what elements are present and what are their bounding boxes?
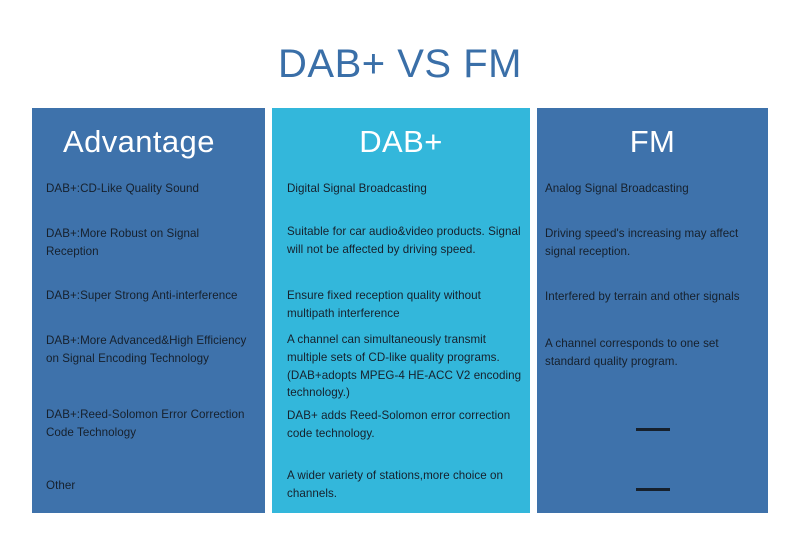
column-body-dab-plus: Digital Signal Broadcasting Suitable for…: [272, 176, 530, 513]
table-cell: A channel can simultaneously transmit mu…: [287, 331, 522, 402]
em-dash-icon: [636, 428, 670, 431]
table-cell: DAB+:More Advanced&High Efficiency on Si…: [46, 332, 251, 368]
table-cell: Digital Signal Broadcasting: [287, 180, 522, 198]
table-cell: DAB+:Super Strong Anti-interference: [46, 287, 251, 305]
column-header-advantage: Advantage: [32, 108, 265, 176]
column-header-dab-plus: DAB+: [272, 108, 530, 176]
table-cell: Interfered by terrain and other signals: [545, 288, 763, 306]
table-cell: Suitable for car audio&video products. S…: [287, 223, 522, 259]
table-cell: DAB+:More Robust on Signal Reception: [46, 225, 251, 261]
column-header-fm: FM: [537, 108, 768, 176]
table-cell: Driving speed's increasing may affect si…: [545, 225, 763, 261]
column-advantage: Advantage DAB+:CD-Like Quality Sound DAB…: [32, 108, 265, 513]
column-fm: FM Analog Signal Broadcasting Driving sp…: [537, 108, 768, 513]
column-body-fm: Analog Signal Broadcasting Driving speed…: [537, 176, 768, 513]
em-dash-icon: [636, 488, 670, 491]
table-cell: Other: [46, 477, 251, 495]
column-dab-plus: DAB+ Digital Signal Broadcasting Suitabl…: [272, 108, 530, 513]
table-cell-dash: [537, 421, 768, 439]
table-cell: A channel corresponds to one set standar…: [545, 335, 763, 371]
table-cell: DAB+:Reed-Solomon Error Correction Code …: [46, 406, 251, 442]
table-cell: Analog Signal Broadcasting: [545, 180, 763, 198]
table-cell: DAB+:CD-Like Quality Sound: [46, 180, 251, 198]
slide-canvas: DAB+ VS FM Advantage DAB+:CD-Like Qualit…: [0, 0, 800, 543]
table-cell-dash: [537, 481, 768, 499]
comparison-table: Advantage DAB+:CD-Like Quality Sound DAB…: [32, 108, 768, 513]
table-cell: DAB+ adds Reed-Solomon error correction …: [287, 407, 522, 443]
column-body-advantage: DAB+:CD-Like Quality Sound DAB+:More Rob…: [32, 176, 265, 513]
table-cell: A wider variety of stations,more choice …: [287, 467, 522, 503]
page-title: DAB+ VS FM: [0, 40, 800, 88]
table-cell: Ensure fixed reception quality without m…: [287, 287, 522, 323]
